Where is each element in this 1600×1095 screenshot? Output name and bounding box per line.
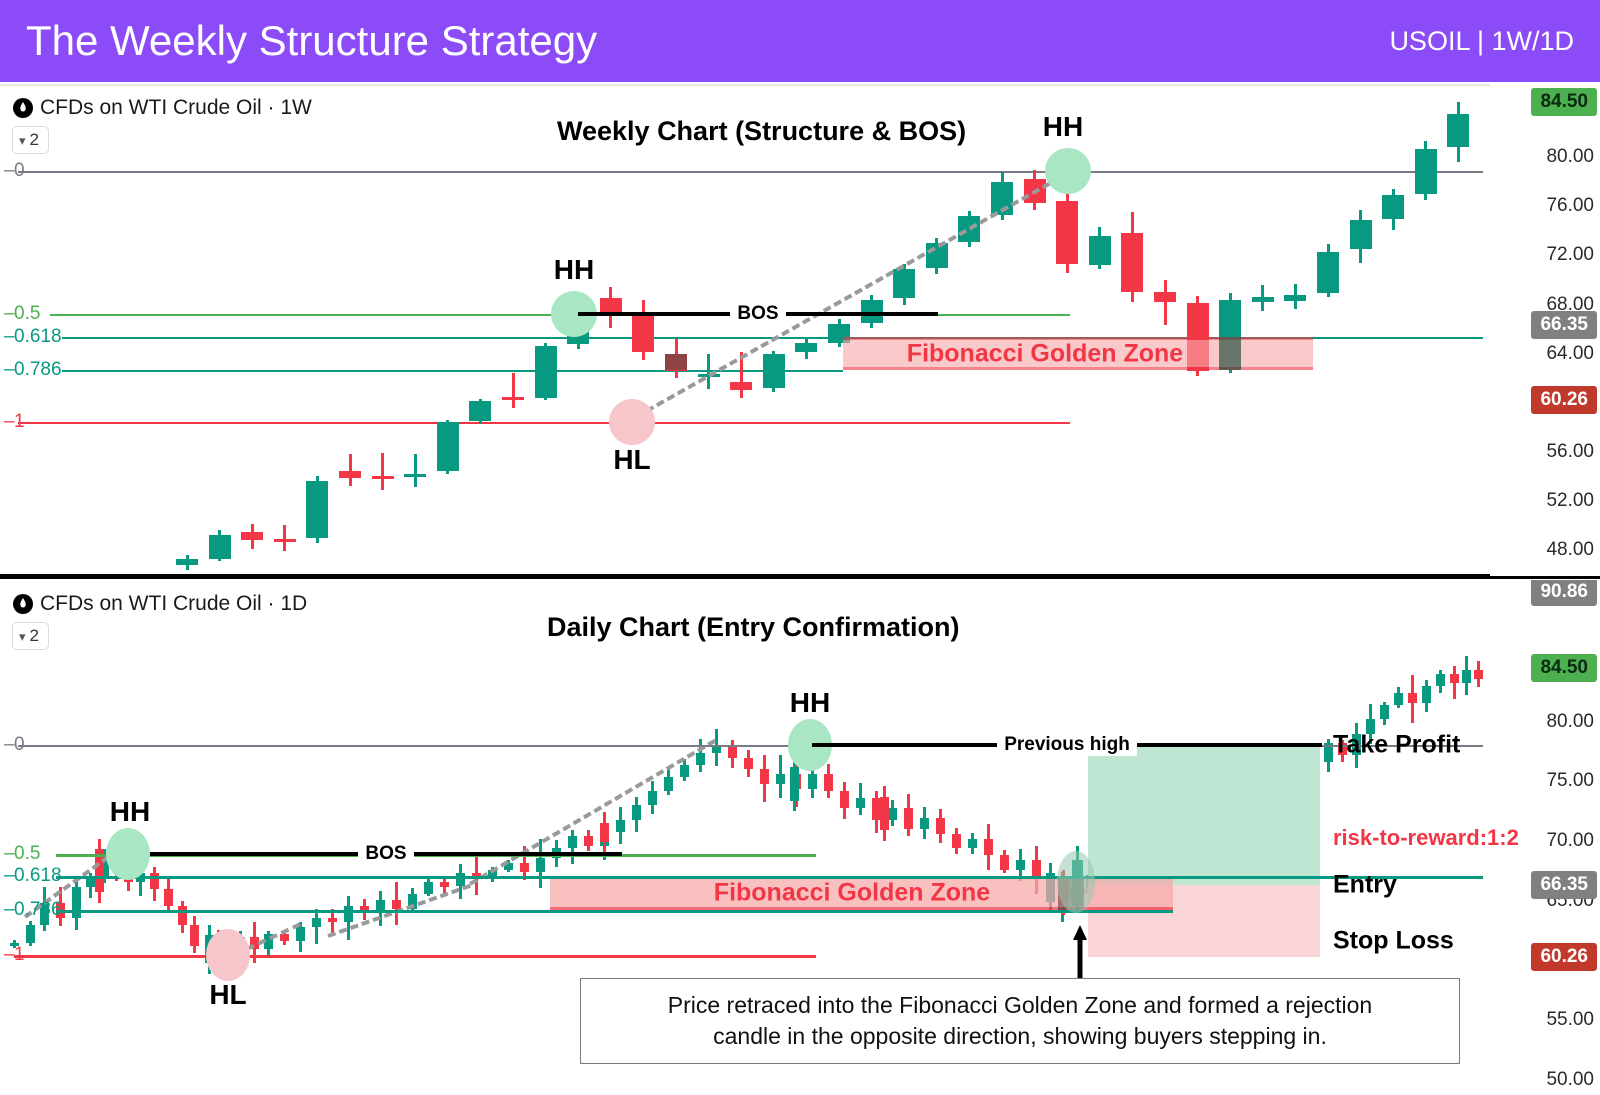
price-axis-tick: 55.00 [1546,1009,1594,1031]
candle-body [339,471,361,477]
fib-level-label: –0.5 [4,843,40,865]
candle-body [1447,114,1469,147]
fib-level-line [14,955,816,958]
candlestick [95,839,104,903]
weekly-chart-pane: CFDs on WTI Crude Oil · 1W ▾ 2 Weekly Ch… [0,84,1600,576]
candlestick [176,555,198,570]
previous-high-connector: Previous high [812,734,1322,756]
candlestick [1000,850,1009,873]
candle-body [1032,860,1041,877]
fib-level-label: –0.618 [4,865,62,887]
candle-body [1350,220,1372,249]
previous-high-line-right [1137,743,1322,747]
candle-body [1415,149,1437,194]
candlestick [178,901,187,933]
hl-label: HL [209,979,246,1011]
candlestick [1450,666,1459,699]
candlestick [469,399,491,424]
candle-body [696,753,705,765]
bos-connector: BOS [150,843,622,865]
candle-body [808,774,817,788]
candle-body [535,346,557,398]
callout-box: Price retraced into the Fibonacci Golden… [580,978,1460,1064]
candle-body [952,834,961,848]
candlestick [1447,102,1469,162]
candle-body [26,925,35,943]
candle-body [1474,670,1483,678]
candlestick [1436,670,1445,693]
price-axis-tick: 50.00 [1546,1069,1594,1091]
entry-marker [1057,851,1095,913]
symbol-timeframe-label: USOIL | 1W/1D [1389,26,1574,57]
candle-body [424,882,433,894]
candle-body [744,758,753,770]
hh-label: HH [110,796,150,828]
entry-price-badge[interactable]: 66.35 [1531,871,1597,899]
candle-body [763,354,785,388]
candle-body [880,797,889,830]
candlestick [1350,210,1372,263]
candlestick [1056,193,1078,273]
bos-connector: BOS [578,303,938,325]
zone-overlap-shading [665,354,687,371]
candlestick [424,878,433,896]
price-axis-tick: 64.00 [1546,343,1594,365]
candle-body [730,382,752,391]
candle-body [968,839,977,849]
price-axis-tick: 80.00 [1546,711,1594,733]
candle-body [824,774,833,791]
candle-body [888,808,897,820]
weekly-plot-area[interactable]: –0–0.5–0.618–0.786–1Fibonacci Golden Zon… [0,84,1490,576]
bos-line-right [414,852,622,856]
candlestick [209,530,231,561]
candlestick [1154,280,1176,325]
candle-body [1154,292,1176,302]
daily-legend-row[interactable]: CFDs on WTI Crude Oil · 1D [12,592,307,616]
candle-body [1252,297,1274,302]
fib-level-label: –0.786 [4,359,62,381]
hh-label: HH [1043,111,1083,143]
candlestick [1462,656,1471,695]
swing-high-marker [1045,148,1091,194]
candle-body [502,397,524,400]
fib-level-label: –0.786 [4,899,62,921]
candlestick [952,828,961,854]
candle-body [1382,195,1404,218]
fib-level-line [62,370,843,372]
fib-level-line [56,910,1173,913]
candle-body [1436,674,1445,686]
previous-high-label: Previous high [997,734,1137,756]
golden-zone-caption: Fibonacci Golden Zone [907,339,1183,368]
swing-high-marker [106,828,150,880]
candlestick [1121,212,1143,302]
oil-drop-icon [12,593,34,615]
candle-body [1462,670,1471,683]
candle-body [1056,201,1078,264]
trendline-dashed [635,176,1061,419]
candlestick [904,794,913,836]
candle-body [893,269,915,298]
candle-body [664,777,673,791]
candlestick [968,833,977,854]
callout-line-1: Price retraced into the Fibonacci Golden… [599,990,1441,1021]
fib-level-line [18,171,1483,173]
bos-line-left [578,312,730,316]
candle-body [469,401,491,421]
candlestick [1474,661,1483,687]
fib-level-label: –1 [4,944,25,966]
candlestick [856,783,865,815]
candle-wick [1164,280,1167,325]
candle-body [795,343,817,353]
candlestick [1415,141,1437,200]
candlestick [502,373,524,407]
candle-body [790,767,799,800]
weekly-chart-legend[interactable]: CFDs on WTI Crude Oil · 1W ▾ 2 [12,96,312,154]
candlestick [920,807,929,839]
candle-body [632,805,641,819]
candle-body [1016,860,1025,870]
candlestick [164,878,173,913]
candlestick [632,797,641,832]
weekly-legend-text: CFDs on WTI Crude Oil · 1W [40,96,312,120]
candlestick [840,782,849,819]
price-axis-tick: 52.00 [1546,490,1594,512]
daily-indicator-count-button[interactable]: ▾ 2 [12,622,49,650]
candle-body [984,839,993,856]
candle-body [280,934,289,941]
candle-body [1121,233,1143,292]
candlestick [1380,702,1389,725]
candle-body [920,818,929,829]
bos-label: BOS [730,303,785,325]
stop-price-badge[interactable]: 60.26 [1531,386,1597,414]
candle-body [904,808,913,829]
pane-separator [0,574,1600,579]
candle-body [178,906,187,925]
fib-level-line [18,422,1070,424]
candle-body [404,474,426,477]
candlestick [392,882,401,925]
entry-label: Entry [1333,870,1397,899]
oil-drop-icon [12,97,34,119]
candle-body [728,746,737,758]
candlestick [1089,227,1111,269]
callout-line-2: candle in the opposite direction, showin… [599,1021,1441,1052]
candlestick [456,864,465,899]
candle-body [437,422,459,471]
last-price-badge[interactable]: 84.50 [1531,654,1597,682]
candle-wick [414,454,417,487]
candlestick [880,786,889,841]
candlestick [1408,675,1417,722]
candle-body [344,906,353,923]
weekly-pane-title: Weekly Chart (Structure & BOS) [557,116,966,147]
candle-body [1422,686,1431,703]
hh-label: HH [790,687,830,719]
weekly-indicator-count: 2 [30,130,39,150]
candle-body [306,481,328,537]
candlestick [744,750,753,777]
fib-level-label: –0.5 [4,303,40,325]
candlestick [535,343,557,401]
candle-body [209,535,231,558]
take-profit-label: Take Profit [1333,730,1460,759]
candlestick [437,420,459,474]
candle-body [1000,855,1009,869]
candle-body [241,532,263,541]
page-header-banner: The Weekly Structure Strategy USOIL | 1W… [0,0,1600,82]
take-profit-zone [1088,745,1320,885]
candlestick [712,729,721,766]
candlestick [1252,285,1274,311]
candle-body [274,539,296,542]
zone-overlap-shading [1219,337,1241,370]
candlestick [888,800,897,825]
chevron-down-icon: ▾ [19,630,26,643]
candle-body [190,925,199,946]
price-axis-tick: 48.00 [1546,539,1594,561]
candle-body [312,918,321,928]
candlestick [274,525,296,551]
candlestick [1394,687,1403,708]
swing-low-marker [206,929,250,981]
bos-line-left [150,852,358,856]
previous-high-line-left [812,743,997,747]
candle-body [856,798,865,808]
candle-body [164,889,173,906]
candle-wick [349,454,352,486]
candle-body [648,791,657,805]
candlestick [1382,189,1404,230]
hl-label: HL [613,444,650,476]
weekly-price-axis[interactable]: 80.0076.0072.0068.0064.0056.0052.0048.00… [1490,84,1600,576]
candle-body [1450,674,1459,684]
candlestick [616,807,625,843]
candle-body [456,873,465,886]
fib-level-label: –0 [4,160,25,182]
candle-wick [381,453,384,490]
candle-body [600,823,609,842]
candlestick [339,454,361,486]
candle-body [1089,236,1111,265]
candlestick [404,454,426,487]
candlestick [776,755,785,799]
risk-reward-label: risk-to-reward:1:2 [1333,825,1519,851]
page-title: The Weekly Structure Strategy [26,20,597,62]
stop-price-badge[interactable]: 60.26 [1531,943,1597,971]
candle-body [760,769,769,783]
fib-level-label: –1 [4,411,25,433]
candlestick [936,809,945,843]
candle-body [176,559,198,565]
daily-chart-legend[interactable]: CFDs on WTI Crude Oil · 1D ▾ 2 [12,592,307,650]
candle-body [328,918,337,923]
candlestick [984,824,993,870]
stop-loss-label: Stop Loss [1333,927,1454,956]
candle-body [1394,693,1403,705]
candle-body [936,818,945,834]
price-axis-tick: 70.00 [1546,830,1594,852]
candlestick [26,921,35,946]
price-axis-tick: 76.00 [1546,195,1594,217]
candle-body [1284,295,1306,301]
candlestick [648,781,657,814]
price-axis-tick: 72.00 [1546,244,1594,266]
candlestick [344,896,353,940]
high-price-badge[interactable]: 90.86 [1531,580,1597,606]
price-axis-tick: 75.00 [1546,770,1594,792]
candlestick [150,867,159,901]
candlestick [1317,244,1339,297]
candlestick [760,755,769,802]
candlestick [763,351,785,392]
candle-body [440,882,449,887]
candle-body [372,476,394,479]
bos-label: BOS [358,843,413,865]
candle-body [1317,252,1339,294]
candlestick [190,916,199,953]
candle-body [840,791,849,808]
fib-level-label: –0.618 [4,326,62,348]
weekly-indicator-count-button[interactable]: ▾ 2 [12,126,49,154]
candle-body [776,774,785,784]
candlestick [372,453,394,490]
candlestick [72,879,81,930]
candle-wick [707,354,710,390]
last-price-badge[interactable]: 84.50 [1531,88,1597,116]
candle-body [296,927,305,941]
candle-body [1408,693,1417,703]
fib-level-label: –0 [4,734,25,756]
candle-wick [512,373,515,407]
hh-label: HH [554,254,594,286]
price-axis-tick: 80.00 [1546,146,1594,168]
candle-body [616,820,625,832]
price-axis-tick: 56.00 [1546,441,1594,463]
candlestick [241,524,263,549]
candle-body [1380,705,1389,719]
daily-legend-text: CFDs on WTI Crude Oil · 1D [40,592,307,616]
golden-zone-caption: Fibonacci Golden Zone [714,879,990,908]
weekly-legend-row[interactable]: CFDs on WTI Crude Oil · 1W [12,96,312,120]
daily-pane-title: Daily Chart (Entry Confirmation) [547,612,960,643]
candlestick [808,767,817,798]
chevron-down-icon: ▾ [19,134,26,147]
daily-indicator-count: 2 [30,626,39,646]
candlestick [824,764,833,797]
candlestick [1284,284,1306,310]
candlestick [306,476,328,542]
entry-price-badge[interactable]: 66.35 [1531,311,1597,339]
bos-line-right [786,312,938,316]
candlestick [1422,680,1431,711]
candlestick [312,909,321,944]
swing-low-marker [609,399,655,445]
candle-body [680,765,689,777]
candlestick [795,338,817,359]
